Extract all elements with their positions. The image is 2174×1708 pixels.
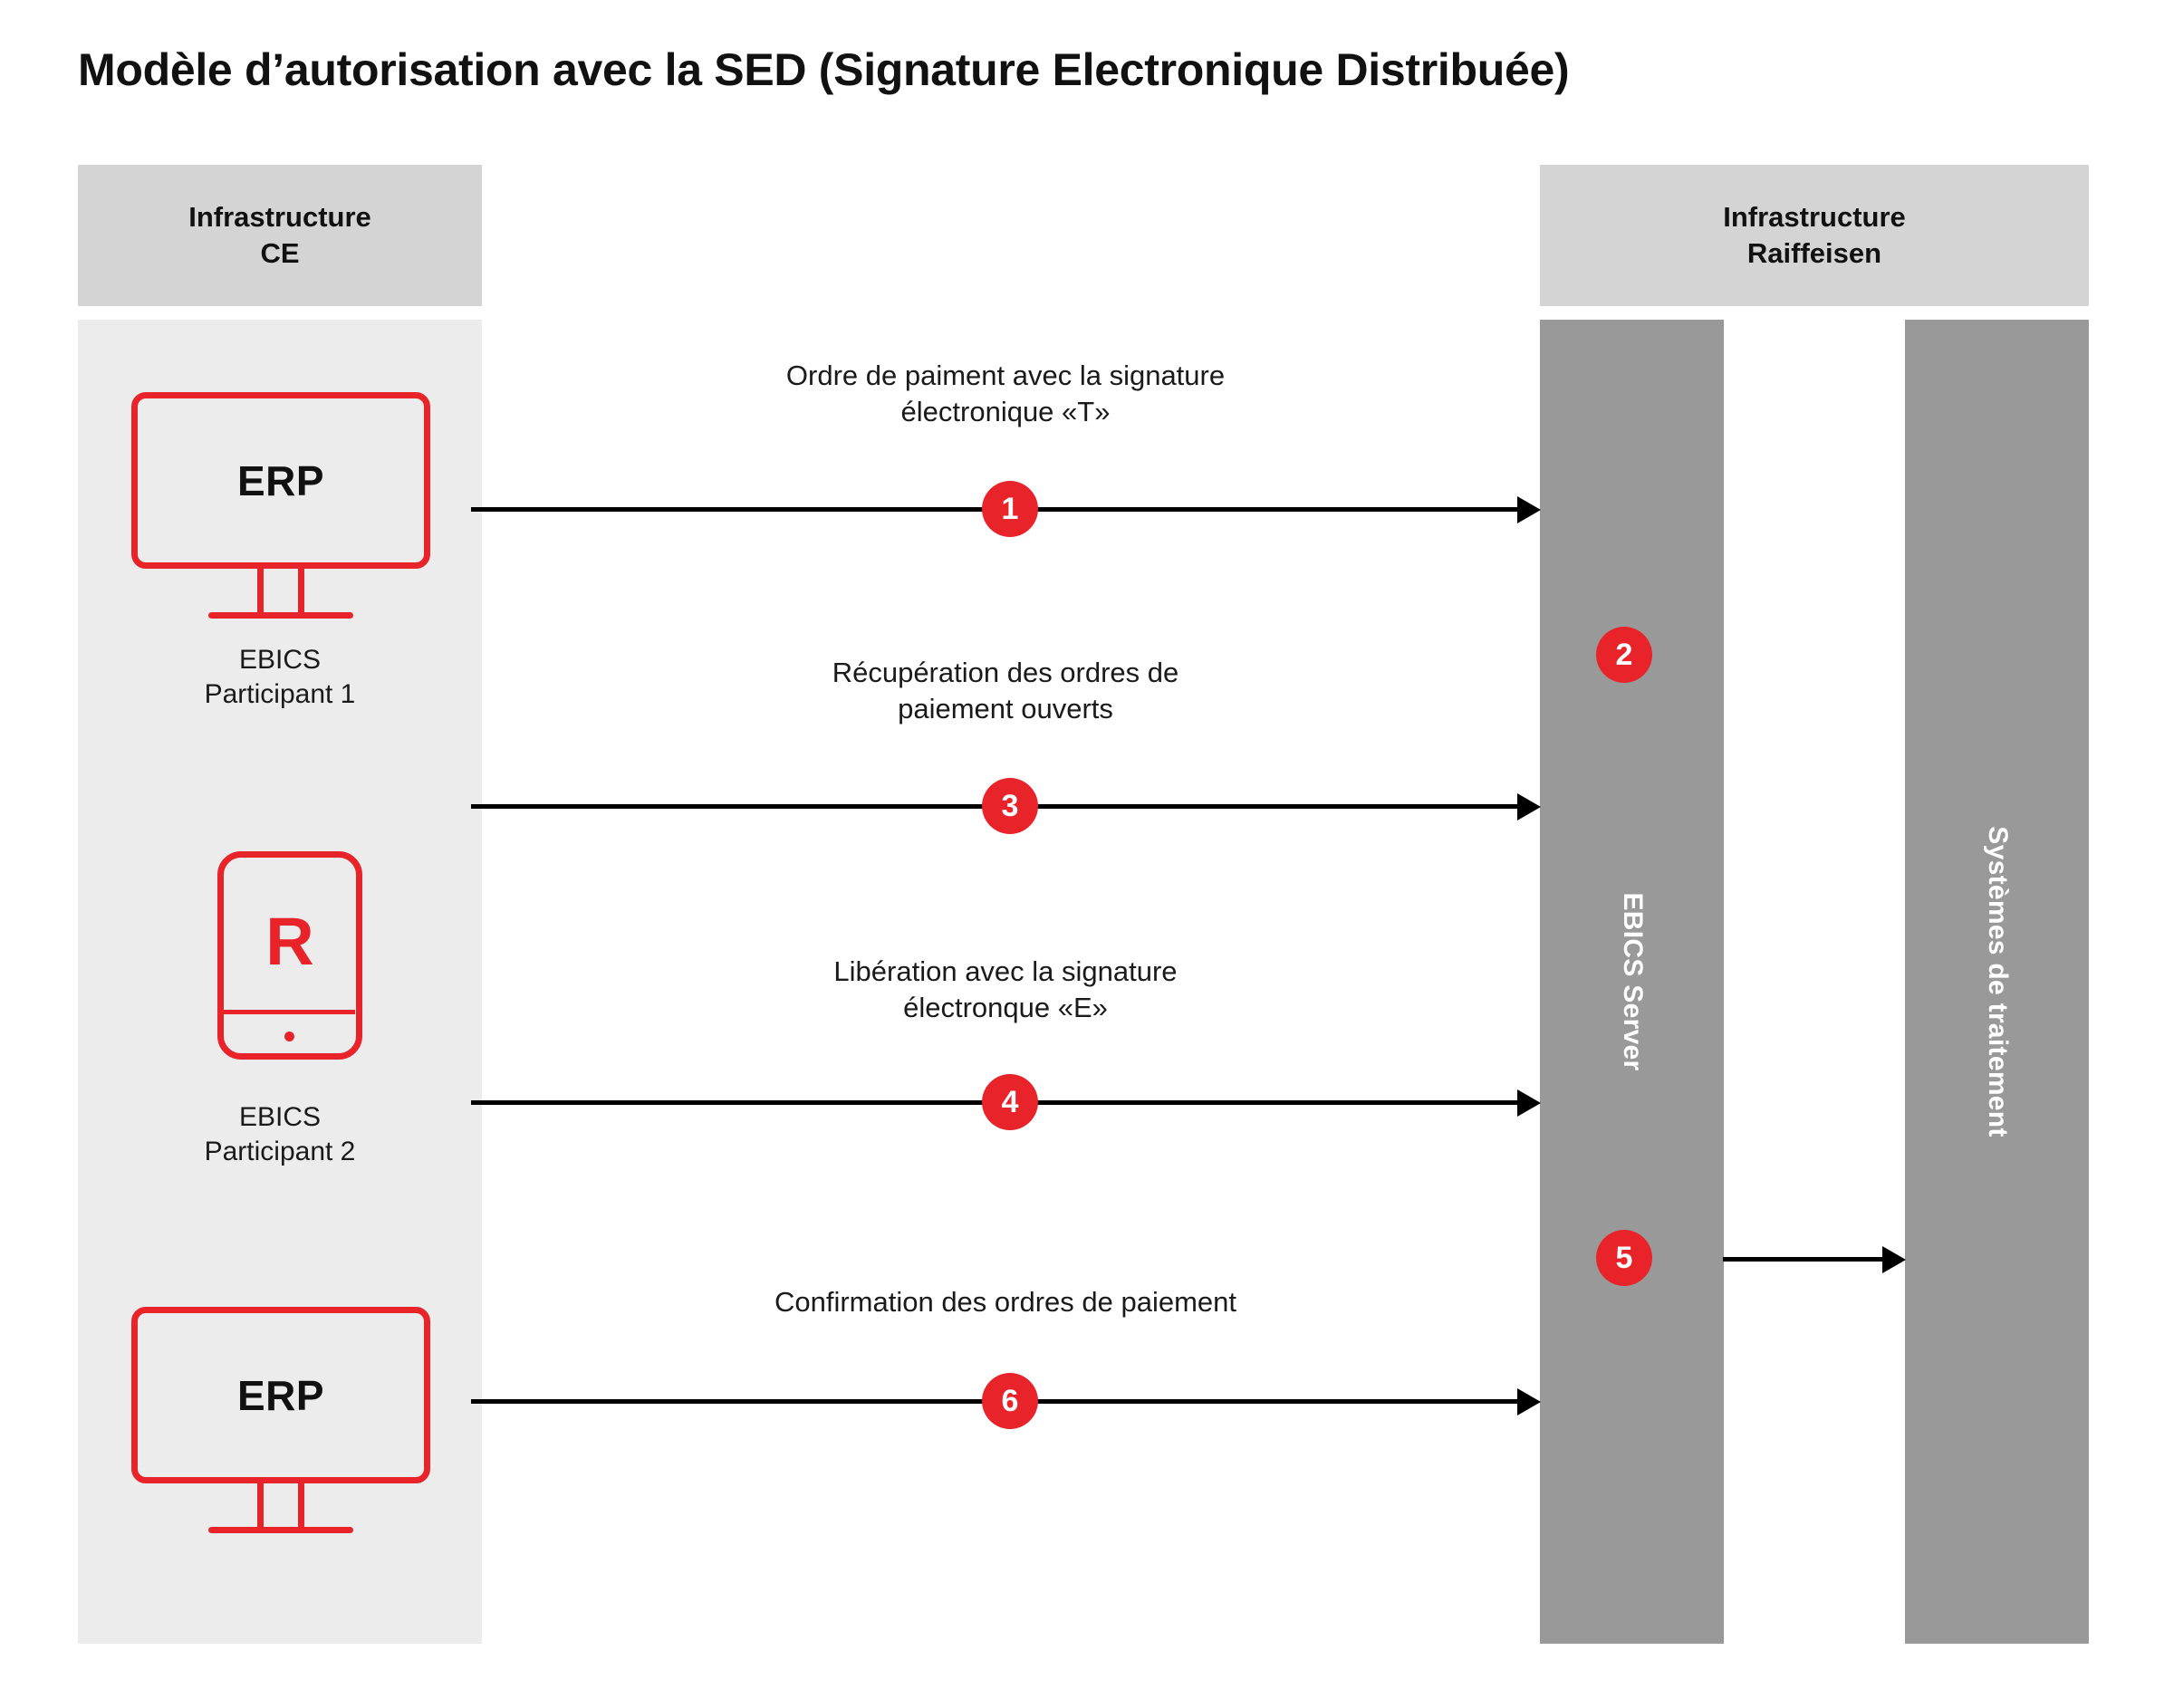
- caption-line2: Participant 1: [205, 679, 356, 709]
- column-header-ce: Infrastructure CE: [78, 165, 482, 306]
- flow-label-4-line1: Libération avec la signature: [833, 955, 1177, 987]
- caption-ebics-participant-2: EBICS Participant 2: [78, 1100, 482, 1168]
- flow-label-4: Libération avec la signature électronque…: [471, 954, 1540, 1027]
- step-badge-1: 1: [982, 481, 1038, 537]
- flow-label-6-line1: Confirmation des ordres de paiement: [774, 1286, 1236, 1318]
- flow-label-1: Ordre de paiment avec la signature élect…: [471, 358, 1540, 431]
- flow-label-3-line1: Récupération des ordres de: [832, 657, 1179, 688]
- bar-ebics-server-label: EBICS Server: [1617, 892, 1648, 1070]
- monitor-neck: [257, 1483, 264, 1527]
- flow-label-6: Confirmation des ordres de paiement: [471, 1284, 1540, 1320]
- bar-ebics-server: EBICS Server: [1540, 320, 1724, 1644]
- device-mobile-participant-2: R: [217, 851, 362, 1060]
- mobile-phone-icon: R: [217, 851, 362, 1060]
- phone-home-dot: [284, 1032, 294, 1041]
- bar-processing-systems-label: Systèmes de traitement: [1982, 826, 2013, 1137]
- device-erp-confirmation: ERP: [131, 1307, 430, 1533]
- monitor-base: [208, 612, 353, 619]
- caption-line1: EBICS: [239, 1102, 321, 1132]
- flow-label-3: Récupération des ordres de paiement ouve…: [471, 655, 1540, 728]
- step-badge-4: 4: [982, 1074, 1038, 1130]
- monitor-screen-label: ERP: [237, 456, 324, 505]
- monitor-screen-label: ERP: [237, 1371, 324, 1420]
- device-erp-participant-1: ERP: [131, 392, 430, 619]
- flow-arrowhead-6: [1517, 1388, 1541, 1415]
- caption-line2: Participant 2: [205, 1137, 356, 1166]
- step-badge-6: 6: [982, 1373, 1038, 1429]
- monitor-neck: [298, 569, 304, 612]
- bar-processing-systems: Systèmes de traitement: [1905, 320, 2089, 1644]
- flow-label-1-line1: Ordre de paiment avec la signature: [786, 360, 1225, 391]
- flow-label-1-line2: électronique «T»: [901, 396, 1111, 427]
- flow-arrowhead-3: [1517, 793, 1541, 820]
- monitor-neck: [298, 1483, 304, 1527]
- flow-arrowhead-4: [1517, 1089, 1541, 1117]
- mobile-screen-letter: R: [224, 908, 356, 975]
- monitor-icon: ERP: [131, 392, 430, 569]
- flow-arrow-5: [1723, 1257, 1886, 1262]
- flow-label-3-line2: paiement ouverts: [898, 693, 1113, 724]
- step-badge-5: 5: [1596, 1230, 1652, 1286]
- flow-arrowhead-1: [1517, 496, 1541, 523]
- phone-divider: [223, 1010, 355, 1014]
- monitor-base: [208, 1527, 353, 1533]
- caption-ebics-participant-1: EBICS Participant 1: [78, 643, 482, 711]
- column-header-ce-line1: Infrastructure: [188, 201, 371, 233]
- step-badge-2: 2: [1596, 627, 1652, 683]
- monitor-icon: ERP: [131, 1307, 430, 1483]
- column-header-ce-line2: CE: [260, 237, 299, 269]
- caption-line1: EBICS: [239, 645, 321, 675]
- page-title: Modèle d’autorisation avec la SED (Signa…: [78, 43, 1569, 96]
- flow-arrowhead-5: [1882, 1246, 1906, 1273]
- column-header-raiffeisen-line2: Raiffeisen: [1747, 237, 1881, 269]
- step-badge-3: 3: [982, 778, 1038, 834]
- monitor-neck: [257, 569, 264, 612]
- column-header-raiffeisen-line1: Infrastructure: [1723, 201, 1906, 233]
- column-header-raiffeisen: Infrastructure Raiffeisen: [1540, 165, 2089, 306]
- flow-label-4-line2: électronque «E»: [903, 992, 1108, 1023]
